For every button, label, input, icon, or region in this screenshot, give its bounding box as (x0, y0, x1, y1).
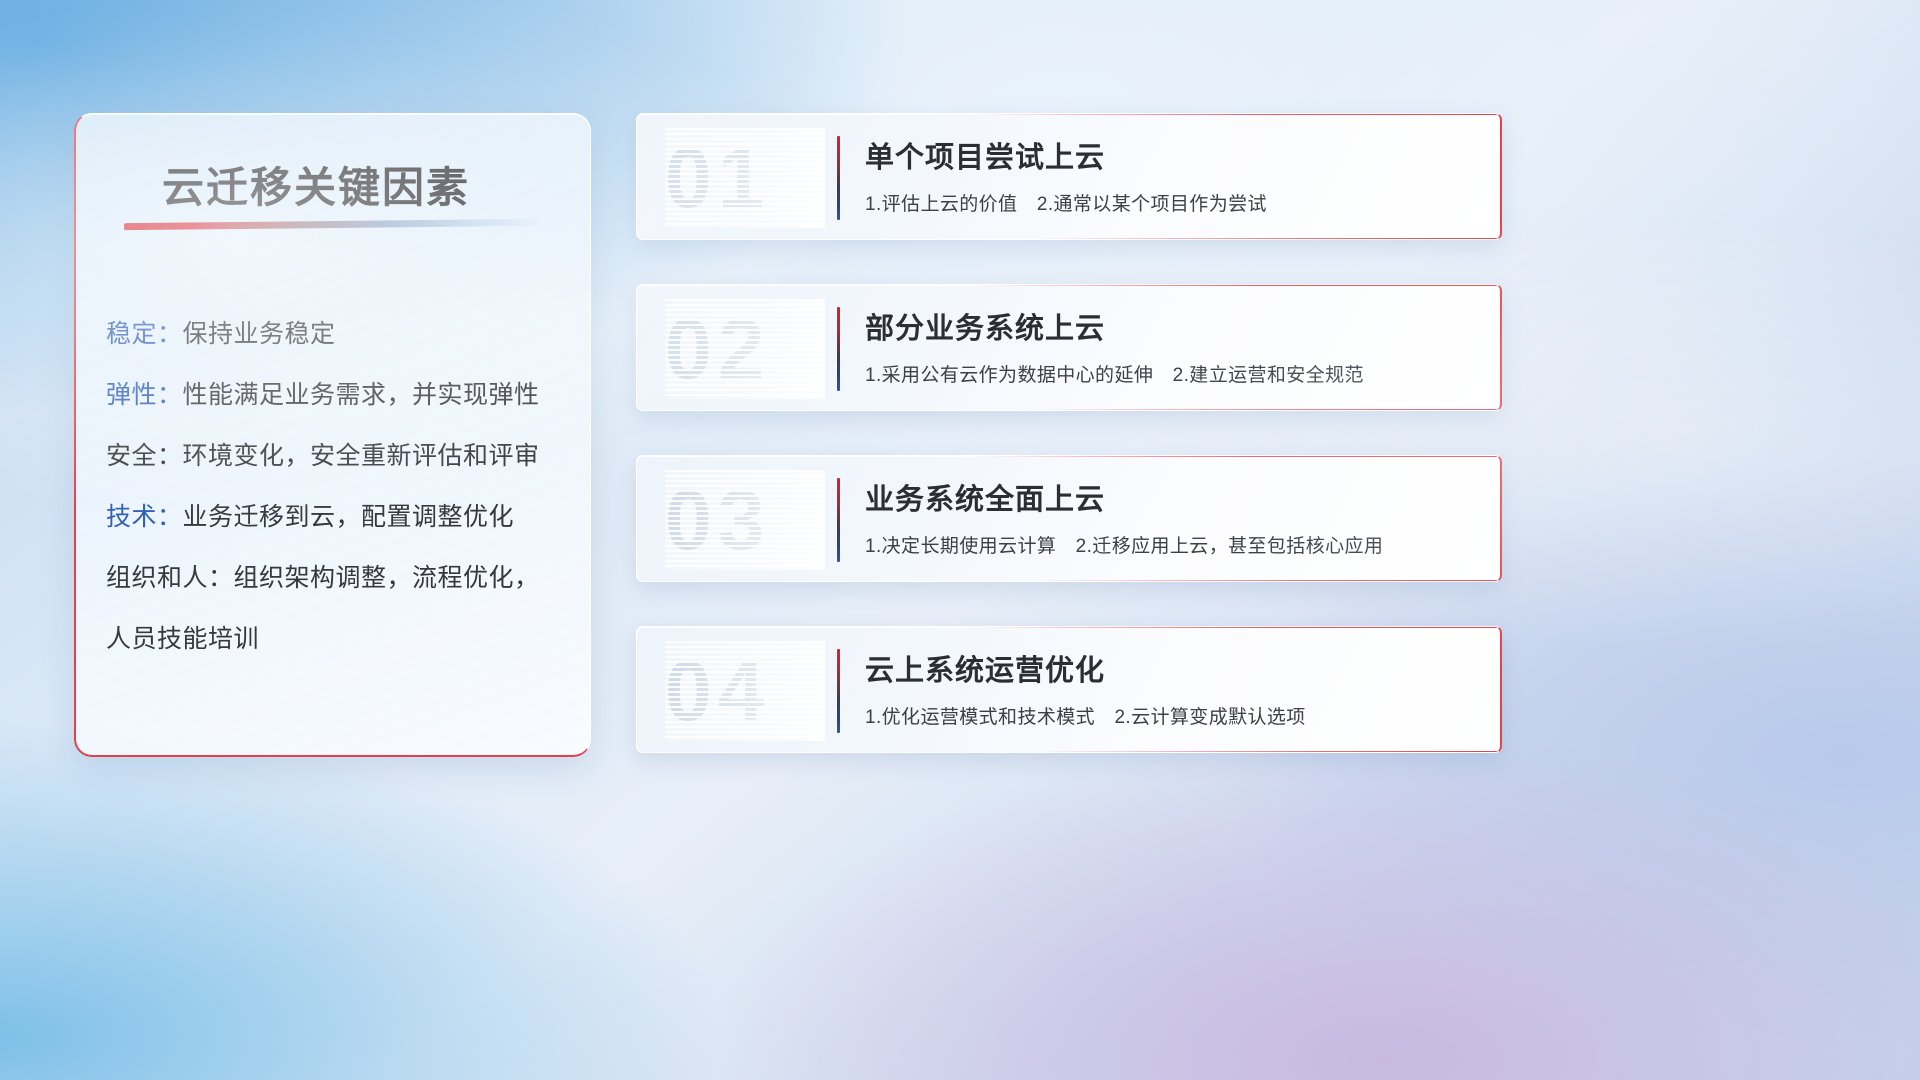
factor-value: 业务迁移到云，配置调整优化 (183, 503, 515, 531)
stage-number: 04 (665, 641, 825, 741)
card-subtitle: 1.采用公有云作为数据中心的延伸 2.建立运营和安全规范 (865, 360, 1476, 387)
factor-value: 人员技能培训 (106, 625, 259, 653)
factor-value: 组织架构调整，流程优化， (234, 564, 540, 592)
card-title: 业务系统全面上云 (865, 476, 1476, 518)
card-divider-accent (837, 478, 840, 562)
card-divider-accent (837, 649, 840, 733)
stage-card[interactable]: 01单个项目尝试上云1.评估上云的价值 2.通常以某个项目作为尝试 (636, 113, 1502, 240)
stage-card[interactable]: 04云上系统运营优化1.优化运营模式和技术模式 2.云计算变成默认选项 (636, 626, 1502, 753)
card-subtitle: 1.决定长期使用云计算 2.迁移应用上云，甚至包括核心应用 (865, 531, 1476, 558)
card-subtitle: 1.评估上云的价值 2.通常以某个项目作为尝试 (865, 189, 1476, 216)
card-text-block: 云上系统运营优化1.优化运营模式和技术模式 2.云计算变成默认选项 (865, 647, 1476, 729)
slide-background: 云迁移关键因素 稳定：保持业务稳定弹性：性能满足业务需求，并实现弹性安全：环境变… (0, 0, 1920, 1080)
card-text-block: 部分业务系统上云1.采用公有云作为数据中心的延伸 2.建立运营和安全规范 (865, 305, 1476, 387)
stage-number: 03 (665, 470, 825, 570)
factor-key: 稳定： (106, 320, 183, 348)
factor-key: 技术： (106, 503, 183, 531)
stage-card-list: 01单个项目尝试上云1.评估上云的价值 2.通常以某个项目作为尝试02部分业务系… (636, 113, 1502, 797)
card-divider-accent (837, 307, 840, 391)
stage-number-badge: 02 (665, 299, 825, 399)
card-title: 云上系统运营优化 (865, 647, 1476, 689)
card-title: 单个项目尝试上云 (865, 134, 1476, 176)
factor-list: 稳定：保持业务稳定弹性：性能满足业务需求，并实现弹性安全：环境变化，安全重新评估… (106, 304, 572, 670)
factor-item: 组织和人：组织架构调整，流程优化， (106, 548, 572, 609)
stage-card[interactable]: 02部分业务系统上云1.采用公有云作为数据中心的延伸 2.建立运营和安全规范 (636, 284, 1502, 411)
title-underline-accent (124, 219, 544, 230)
page-title: 云迁移关键因素 (162, 154, 470, 215)
card-text-block: 单个项目尝试上云1.评估上云的价值 2.通常以某个项目作为尝试 (865, 134, 1476, 216)
factor-item: 技术：业务迁移到云，配置调整优化 (106, 487, 572, 548)
key-factors-panel: 云迁移关键因素 稳定：保持业务稳定弹性：性能满足业务需求，并实现弹性安全：环境变… (74, 113, 591, 757)
stage-number-badge: 03 (665, 470, 825, 570)
factor-value: 保持业务稳定 (183, 320, 336, 348)
factor-key: 弹性： (106, 381, 183, 409)
stage-number-badge: 04 (665, 641, 825, 741)
factor-item: 人员技能培训 (106, 609, 572, 670)
card-text-block: 业务系统全面上云1.决定长期使用云计算 2.迁移应用上云，甚至包括核心应用 (865, 476, 1476, 558)
card-title: 部分业务系统上云 (865, 305, 1476, 347)
factor-item: 安全：环境变化，安全重新评估和评审 (106, 426, 572, 487)
card-divider-accent (837, 136, 840, 220)
factor-key: 组织和人： (106, 564, 234, 592)
stage-number-badge: 01 (665, 128, 825, 228)
factor-value: 性能满足业务需求，并实现弹性 (183, 381, 540, 409)
stage-number: 01 (665, 128, 825, 228)
factor-value: 环境变化，安全重新评估和评审 (183, 442, 540, 470)
factor-item: 弹性：性能满足业务需求，并实现弹性 (106, 365, 572, 426)
stage-number: 02 (665, 299, 825, 399)
stage-card[interactable]: 03业务系统全面上云1.决定长期使用云计算 2.迁移应用上云，甚至包括核心应用 (636, 455, 1502, 582)
factor-item: 稳定：保持业务稳定 (106, 304, 572, 365)
factor-key: 安全： (106, 442, 183, 470)
card-subtitle: 1.优化运营模式和技术模式 2.云计算变成默认选项 (865, 702, 1476, 729)
